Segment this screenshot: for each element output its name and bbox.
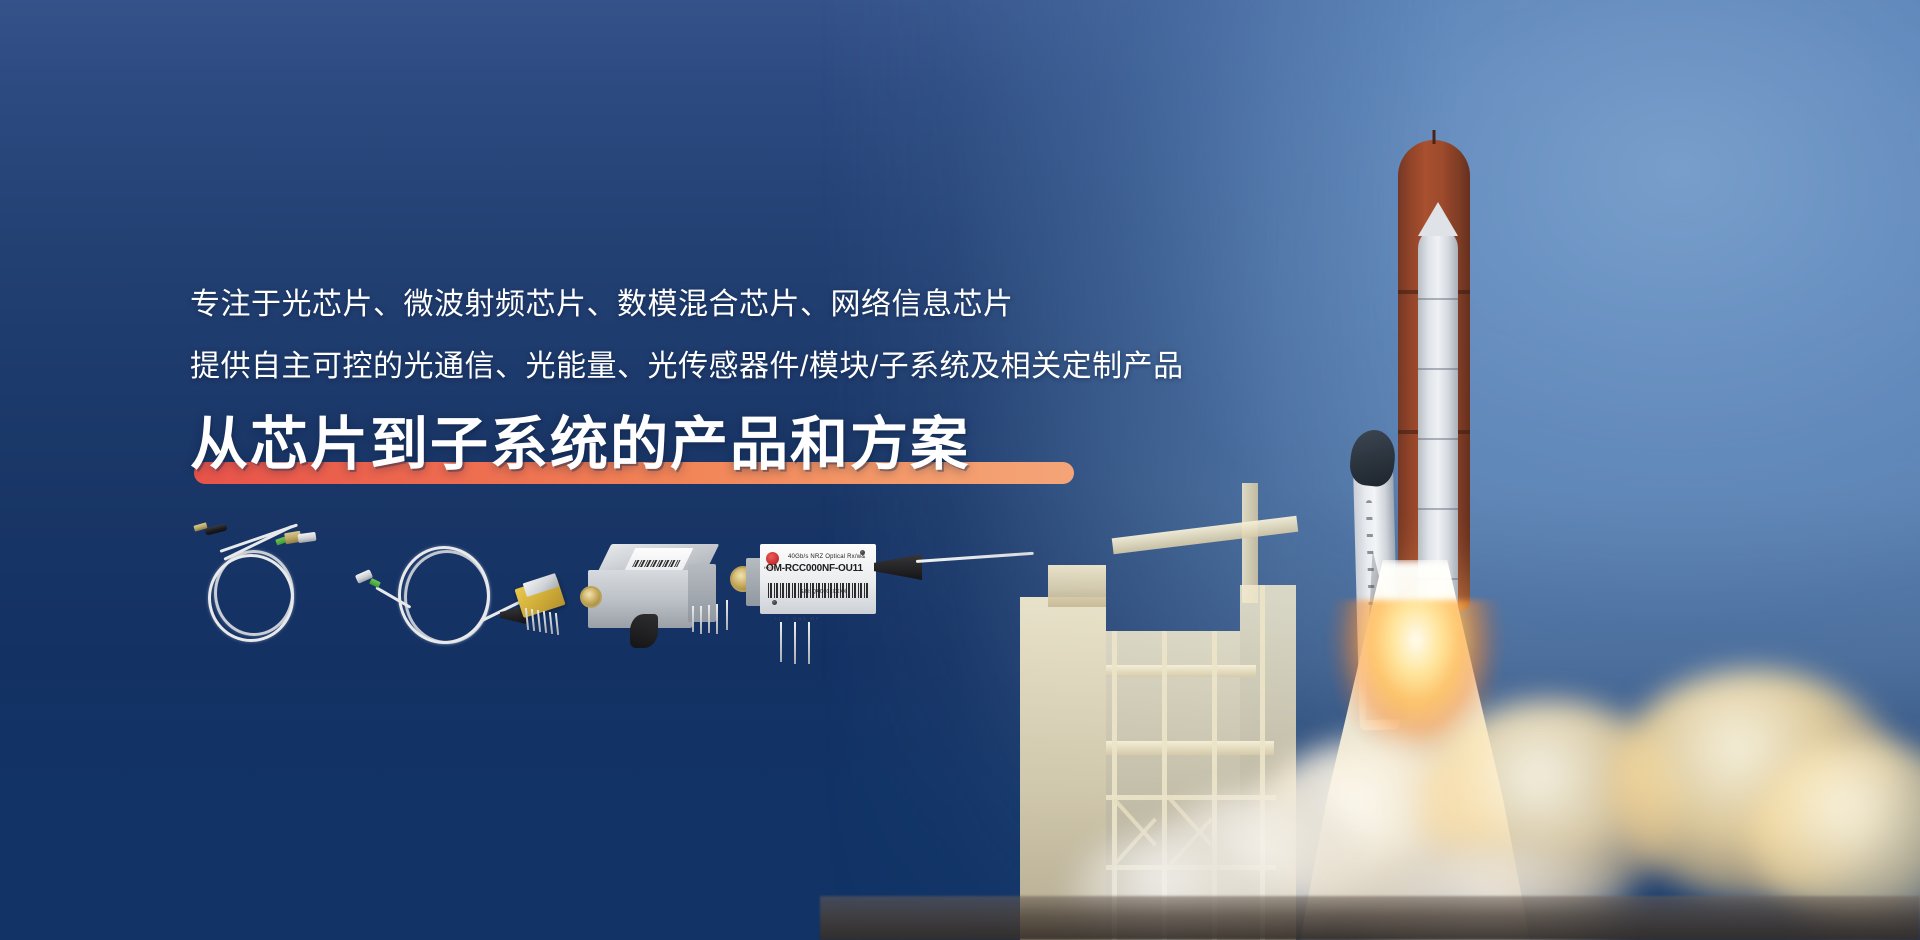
receiver-label-title: 40Gb/s NRZ Optical Rx/w& <box>788 554 866 560</box>
receiver-pin <box>794 622 796 664</box>
srb-segment-1 <box>1418 298 1458 300</box>
receiver-pin <box>808 622 810 664</box>
fiber-tail <box>916 552 1034 563</box>
module-pin <box>692 606 694 632</box>
srb-segment-3 <box>1418 438 1458 440</box>
module-pin <box>708 605 710 633</box>
screw-icon <box>860 550 865 555</box>
receiver-serial-number: S/N: QAC001XXXX <box>800 589 847 595</box>
connector-green-sleeve <box>369 578 381 588</box>
product-optical-receiver: HXST 40Gb/s NRZ Optical Rx/w& OM-RCC000N… <box>730 530 1030 670</box>
product-fiber-pigtail-1 <box>190 520 350 640</box>
engine-flame <box>1326 600 1506 800</box>
butterfly-pin <box>543 611 547 633</box>
product-butterfly-laser <box>350 528 550 658</box>
receiver-pin-labels: +1.7 GND RF <box>774 616 820 621</box>
module-pin <box>726 600 728 630</box>
butterfly-pin <box>555 613 559 635</box>
headline-group: 从芯片到子系统的产品和方案 <box>190 408 970 490</box>
module-pin <box>700 606 702 634</box>
receiver-fiber-boot <box>874 554 922 580</box>
subline-two: 提供自主可控的光通信、光能量、光传感器件/模块/子系统及相关定制产品 <box>190 350 1184 384</box>
receiver-part-number: OM-RCC000NF-OU11 <box>766 563 863 574</box>
tower-column-4 <box>1260 585 1265 940</box>
hero-banner: 专注于光芯片、微波射频芯片、数模混合芯片、网络信息芯片 提供自主可控的光通信、光… <box>0 0 1920 940</box>
srb-segment-2 <box>1418 368 1458 370</box>
hero-content: 专注于光芯片、微波射频芯片、数模混合芯片、网络信息芯片 提供自主可控的光通信、光… <box>190 0 1190 940</box>
fiber-loop <box>214 550 294 636</box>
srb-segment-4 <box>1418 508 1458 510</box>
module-pin <box>716 604 718 634</box>
fiber-loop <box>404 550 490 644</box>
tower-structure-right <box>1240 585 1296 940</box>
page-title: 从芯片到子系统的产品和方案 <box>190 408 970 482</box>
butterfly-pin <box>537 610 541 632</box>
fiber-boot <box>630 614 658 648</box>
tower-column-3 <box>1212 631 1217 940</box>
module-label <box>625 548 694 570</box>
screw-icon <box>772 600 777 605</box>
butterfly-pin <box>549 612 553 634</box>
sma-connector <box>580 586 602 608</box>
connector-boot <box>204 523 227 535</box>
product-showcase-row: HXST 40Gb/s NRZ Optical Rx/w& OM-RCC000N… <box>190 520 1170 680</box>
receiver-pin <box>780 622 782 662</box>
receiver-label-face: HXST 40Gb/s NRZ Optical Rx/w& OM-RCC000N… <box>760 544 876 614</box>
barcode <box>632 560 681 567</box>
connector-body <box>297 532 316 543</box>
subline-one: 专注于光芯片、微波射频芯片、数模混合芯片、网络信息芯片 <box>190 288 1014 322</box>
